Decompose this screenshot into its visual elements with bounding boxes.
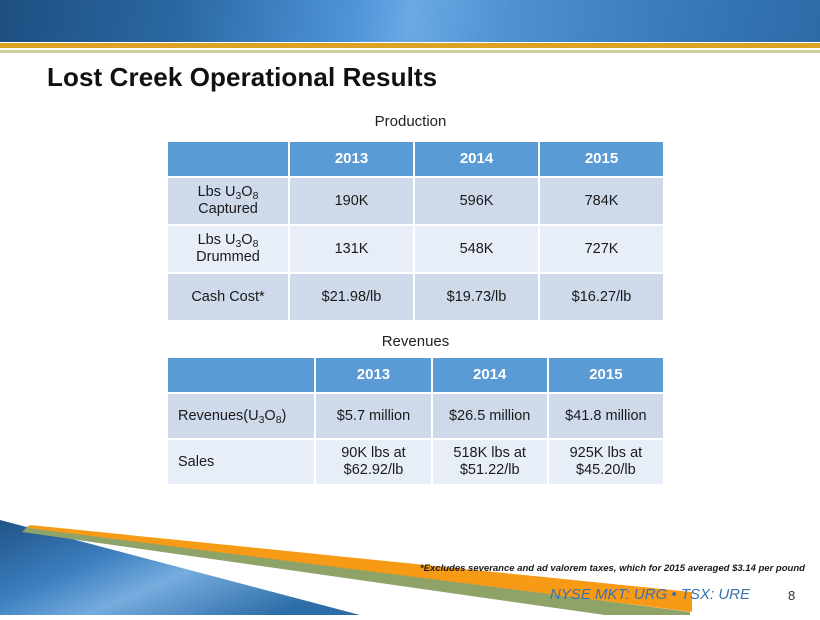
revenues-table: 2013 2014 2015 Revenues(U3O8) $5.7 milli… [166,356,665,486]
production-cell-captured-2015: 784K [540,178,663,224]
cell-line-2: $62.92/lb [344,462,404,478]
production-table: 2013 2014 2015 Lbs U3O8 Captured 190K 59… [166,140,665,322]
label-text: O [241,232,252,248]
cell-line-1: 925K lbs at [570,445,643,461]
table-header-row: 2013 2014 2015 [168,358,663,392]
table-row: Lbs U3O8 Drummed 131K 548K 727K [168,226,663,272]
production-header-2015: 2015 [540,142,663,176]
table-row: Revenues(U3O8) $5.7 million $26.5 millio… [168,394,663,438]
slide-number: 8 [788,588,795,603]
production-row-label-captured: Lbs U3O8 Captured [168,178,288,224]
ticker-symbols: NYSE MKT: URG • TSX: URE [420,586,750,603]
production-cell-cash-cost-2014: $19.73/lb [415,274,538,320]
label-text: O [264,408,275,424]
footnote: *Excludes severance and ad valorem taxes… [420,563,810,574]
cell-line-1: 90K lbs at [341,445,406,461]
label-text: Drummed [196,249,260,265]
revenues-cell-2015: $41.8 million [549,394,663,438]
production-header-2013: 2013 [290,142,413,176]
revenues-header-2013: 2013 [316,358,430,392]
cell-line-1: 518K lbs at [453,445,526,461]
revenues-cell-2013: $5.7 million [316,394,430,438]
table-row: Sales 90K lbs at $62.92/lb 518K lbs at $… [168,440,663,484]
header-olive-rule [0,50,820,53]
table-row: Lbs U3O8 Captured 190K 596K 784K [168,178,663,224]
label-sub: 3 [235,239,241,250]
production-table-caption: Production [166,113,655,130]
revenues-cell-2014: $26.5 million [433,394,547,438]
page-title: Lost Creek Operational Results [47,62,437,93]
sales-cell-2014: 518K lbs at $51.22/lb [433,440,547,484]
label-sub: 8 [253,191,259,202]
revenues-header-2014: 2014 [433,358,547,392]
production-header-2014: 2014 [415,142,538,176]
label-text: ) [282,408,287,424]
production-row-label-cash-cost: Cash Cost* [168,274,288,320]
production-cell-captured-2013: 190K [290,178,413,224]
production-cell-drummed-2015: 727K [540,226,663,272]
cell-line-2: $51.22/lb [460,462,520,478]
sales-cell-2015: 925K lbs at $45.20/lb [549,440,663,484]
production-cell-captured-2014: 596K [415,178,538,224]
label-text: Lbs U [198,184,236,200]
label-sub: 3 [235,191,241,202]
label-sub: 3 [259,415,265,426]
header-gold-rule [0,43,820,48]
revenues-row-label-sales: Sales [168,440,314,484]
production-row-label-drummed: Lbs U3O8 Drummed [168,226,288,272]
production-cell-cash-cost-2015: $16.27/lb [540,274,663,320]
cell-line-2: $45.20/lb [576,462,636,478]
label-sub: 8 [253,239,259,250]
revenues-table-caption: Revenues [166,333,665,350]
revenues-header-2015: 2015 [549,358,663,392]
production-cell-drummed-2013: 131K [290,226,413,272]
production-cell-cash-cost-2013: $21.98/lb [290,274,413,320]
label-text: Lbs U [198,232,236,248]
label-sub: 8 [276,415,282,426]
table-header-row: 2013 2014 2015 [168,142,663,176]
label-text: O [241,184,252,200]
revenues-row-label-revenues: Revenues(U3O8) [168,394,314,438]
sales-cell-2013: 90K lbs at $62.92/lb [316,440,430,484]
revenues-header-blank [168,358,314,392]
corner-blue-triangle [0,520,360,615]
header-band [0,0,820,42]
production-header-blank [168,142,288,176]
label-text: Revenues(U [178,408,259,424]
label-text: Captured [198,201,258,217]
production-cell-drummed-2014: 548K [415,226,538,272]
table-row: Cash Cost* $21.98/lb $19.73/lb $16.27/lb [168,274,663,320]
